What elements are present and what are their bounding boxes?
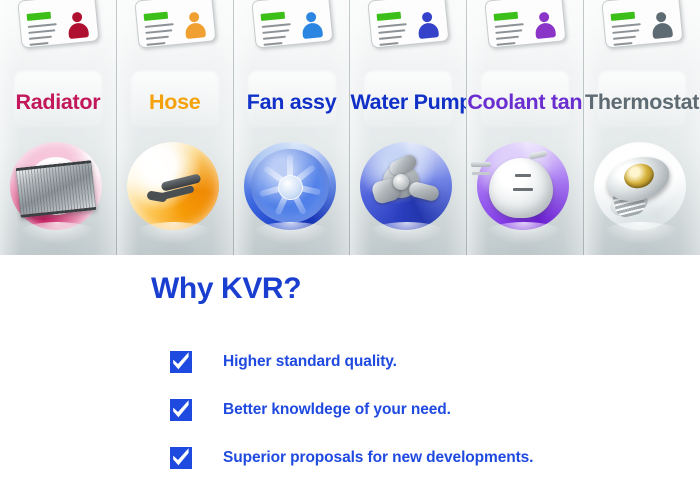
id-card-text-line — [495, 23, 524, 28]
id-card-body — [601, 0, 683, 49]
product-category-banner: Radiator Hose — [0, 0, 700, 255]
coolant-tank-product-image — [473, 136, 577, 240]
person-silhouette-icon — [534, 11, 557, 41]
list-item: Better knowldege of your need. — [170, 396, 690, 424]
id-card-text-line — [28, 29, 55, 34]
category-label-hose: Hose — [117, 90, 233, 115]
benefit-text: Higher standard quality. — [223, 353, 397, 371]
person-silhouette-icon — [651, 11, 674, 41]
list-item: Higher standard quality. — [170, 348, 690, 376]
coolant-tank-body — [489, 158, 553, 218]
id-card-text-line — [613, 42, 632, 46]
person-silhouette-icon — [417, 11, 440, 41]
id-card-body — [484, 0, 566, 49]
thermostat-product-image — [590, 136, 694, 240]
id-card-green-bar — [494, 12, 519, 21]
category-label-radiator: Radiator — [0, 90, 116, 115]
category-label-water-pump: Water Pump — [350, 90, 466, 115]
list-item: Superior proposals for new developments. — [170, 444, 690, 472]
id-card-green-bar — [26, 12, 51, 21]
id-card-green-bar — [143, 12, 168, 21]
water-pump-product-image — [356, 136, 460, 240]
id-card-icon — [367, 0, 450, 47]
category-label-coolant-tank: Coolant tank — [467, 90, 583, 115]
id-card-text-line — [379, 36, 402, 40]
id-card-body — [368, 0, 450, 49]
id-card-icon — [17, 0, 100, 47]
id-card-text-line — [145, 29, 172, 34]
category-panel-coolant-tank[interactable]: Coolant tank — [467, 0, 584, 255]
id-card-text-line — [146, 36, 169, 40]
id-card-body — [251, 0, 333, 49]
id-card-text-line — [497, 42, 516, 46]
id-card-green-bar — [260, 12, 285, 21]
id-card-text-line — [262, 36, 285, 40]
id-card-text-line — [29, 36, 52, 40]
fan-product-image — [240, 136, 344, 240]
radiator-product-image — [6, 136, 110, 240]
hose-pipe — [143, 176, 201, 206]
id-card-green-bar — [611, 12, 636, 21]
fan-hub — [278, 175, 303, 200]
id-card-body — [17, 0, 99, 49]
checkbox-checked-icon — [170, 399, 192, 421]
id-card-icon — [601, 0, 684, 47]
id-card-text-line — [613, 36, 636, 40]
category-panel-water-pump[interactable]: Water Pump — [350, 0, 467, 255]
category-panel-thermostat[interactable]: Thermostat — [584, 0, 700, 255]
category-panel-hose[interactable]: Hose — [117, 0, 234, 255]
id-card-text-line — [263, 42, 282, 46]
id-card-body — [134, 0, 216, 49]
id-card-icon — [133, 0, 216, 47]
benefit-text: Superior proposals for new developments. — [223, 449, 533, 467]
id-card-text-line — [380, 42, 399, 46]
id-card-icon — [250, 0, 333, 47]
person-silhouette-icon — [300, 11, 323, 41]
id-card-text-line — [612, 23, 641, 28]
id-card-icon — [484, 0, 567, 47]
fan-disc — [251, 149, 329, 223]
id-card-text-line — [261, 23, 290, 28]
category-label-fan-assy: Fan assy — [234, 90, 350, 115]
id-card-text-line — [496, 36, 519, 40]
page-title: Why KVR? — [151, 272, 301, 306]
category-panel-radiator[interactable]: Radiator — [0, 0, 117, 255]
id-card-text-line — [144, 23, 173, 28]
coolant-tank-nipple — [471, 162, 491, 167]
id-card-text-line — [496, 29, 523, 34]
id-card-text-line — [262, 29, 289, 34]
benefit-text: Better knowldege of your need. — [223, 401, 451, 419]
id-card-text-line — [378, 23, 407, 28]
checkbox-checked-icon — [170, 351, 192, 373]
category-label-thermostat: Thermostat — [584, 90, 700, 115]
id-card-text-line — [612, 29, 639, 34]
id-card-green-bar — [377, 12, 402, 21]
thermostat-body — [604, 150, 676, 222]
benefits-list: Higher standard quality. Better knowldeg… — [170, 348, 690, 492]
id-card-text-line — [28, 23, 57, 28]
water-pump-body — [369, 158, 439, 212]
checkbox-checked-icon — [170, 447, 192, 469]
person-silhouette-icon — [183, 11, 206, 41]
id-card-text-line — [29, 42, 48, 46]
id-card-text-line — [379, 29, 406, 34]
id-card-text-line — [146, 42, 165, 46]
category-panel-fan-assy[interactable]: Fan assy — [234, 0, 351, 255]
hose-product-image — [123, 136, 227, 240]
radiator-core — [16, 160, 97, 218]
person-silhouette-icon — [67, 11, 90, 41]
